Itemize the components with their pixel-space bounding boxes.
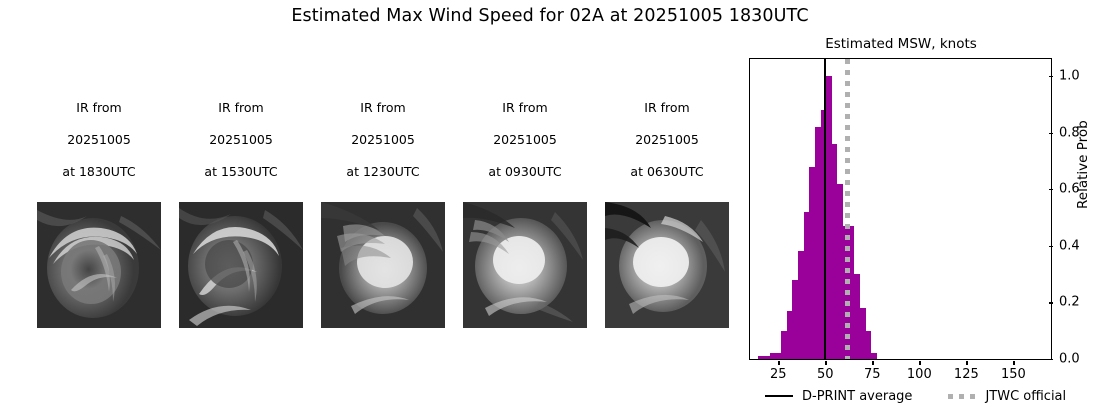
chart-title: Estimated MSW, knots: [749, 36, 1053, 52]
x-axis-tick-label: 125: [954, 367, 979, 382]
x-axis-tick-label: 150: [1001, 367, 1026, 382]
legend-solid-line-icon: [765, 395, 793, 397]
y-axis-tick-label: 0.0: [1059, 352, 1080, 367]
legend-entry-jtwc-official: JTWC official: [948, 389, 1066, 404]
histogram-bar: [871, 353, 877, 359]
chart-legend: D-PRINT average JTWC official: [749, 387, 1069, 405]
legend-label: JTWC official: [985, 389, 1066, 404]
x-axis-tick-label: 100: [907, 367, 932, 382]
y-axis-tick-label: 0.4: [1059, 238, 1080, 253]
x-axis-tick: [825, 361, 826, 365]
x-axis-tick: [1013, 361, 1014, 365]
y-axis-tick: [1049, 302, 1053, 303]
legend-entry-dprint-average: D-PRINT average: [765, 389, 912, 404]
y-axis-tick: [1049, 189, 1053, 190]
y-axis-label: Relative Prob: [1075, 120, 1091, 209]
legend-label: D-PRINT average: [802, 389, 912, 404]
y-axis-tick-label: 1.0: [1059, 68, 1080, 83]
histogram-panel: Estimated MSW, knots 2550751001251500.00…: [0, 0, 1100, 409]
y-axis-tick: [1049, 133, 1053, 134]
x-axis-tick-label: 75: [864, 367, 881, 382]
histogram-bars: [750, 59, 1051, 359]
dprint-average-line: [824, 59, 826, 359]
y-axis-tick: [1049, 246, 1053, 247]
x-axis-tick: [966, 361, 967, 365]
x-axis-tick: [872, 361, 873, 365]
y-axis-tick: [1049, 76, 1053, 77]
x-axis-tick-label: 50: [817, 367, 834, 382]
legend-dotted-line-icon: [948, 394, 976, 399]
x-axis-tick: [919, 361, 920, 365]
plot-area[interactable]: 2550751001251500.00.20.40.60.81.0: [749, 58, 1052, 360]
y-axis-tick: [1049, 359, 1053, 360]
y-axis-tick-label: 0.2: [1059, 295, 1080, 310]
x-axis-tick-label: 25: [770, 367, 787, 382]
x-axis-tick: [778, 361, 779, 365]
jtwc-official-line: [845, 59, 850, 359]
